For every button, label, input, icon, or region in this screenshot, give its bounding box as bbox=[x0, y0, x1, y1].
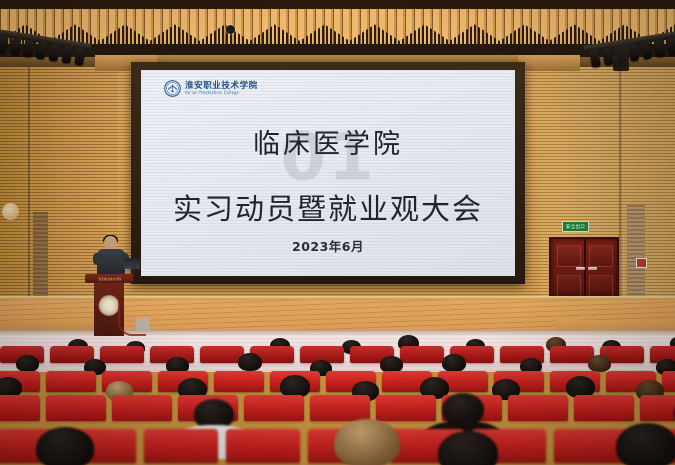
audience-head bbox=[588, 355, 611, 372]
speaker-person bbox=[94, 236, 128, 278]
huaian-polytechnic-emblem-icon bbox=[164, 80, 181, 97]
theater-seat[interactable] bbox=[112, 395, 172, 421]
door-handle[interactable] bbox=[576, 267, 585, 270]
door-panel bbox=[557, 275, 581, 297]
speaker-arm-left bbox=[93, 253, 102, 265]
school-crest-icon bbox=[100, 296, 119, 315]
stage-lamp-icon bbox=[48, 44, 60, 62]
audience-head bbox=[36, 427, 94, 465]
stage-lamp-icon bbox=[36, 41, 48, 59]
stage-lamp-icon bbox=[602, 48, 614, 66]
slide-date: 2023年6月 bbox=[141, 236, 515, 255]
ceiling-top-shadow bbox=[0, 0, 675, 9]
floor-monitor-box bbox=[135, 317, 151, 333]
door-panel bbox=[589, 275, 613, 297]
exit-sign: 安全出口 bbox=[562, 221, 589, 232]
slide-logo-cn: 淮安职业技术学院 bbox=[185, 82, 258, 91]
theater-seat[interactable] bbox=[100, 346, 144, 363]
theater-seat[interactable] bbox=[46, 395, 106, 421]
podium-plaque: 淮安职业技术学院 bbox=[89, 277, 131, 281]
podium-laptop bbox=[123, 258, 140, 269]
stage-lamp-icon bbox=[10, 37, 22, 55]
projection-screen-frame: 01 淮安职业技术学院 Hu'ian Polytechnic College 临… bbox=[131, 62, 525, 284]
wall-lamp-icon bbox=[2, 203, 19, 220]
stage-light-truss-left bbox=[0, 29, 92, 109]
door-handle[interactable] bbox=[588, 267, 597, 270]
stage-lamp-icon bbox=[628, 43, 640, 61]
exit-sign-label: 安全出口 bbox=[566, 224, 585, 230]
theater-seat[interactable] bbox=[400, 346, 444, 363]
audience-head bbox=[334, 419, 400, 465]
theater-seat[interactable] bbox=[376, 395, 436, 421]
audience-head bbox=[442, 354, 466, 372]
soffit-panel-right bbox=[518, 55, 580, 71]
theater-seat[interactable] bbox=[508, 395, 568, 421]
stage-lamp-icon bbox=[0, 35, 9, 53]
slide-title: 临床医学院 bbox=[141, 122, 515, 161]
theater-seat[interactable] bbox=[310, 395, 370, 421]
theater-seat[interactable] bbox=[46, 371, 96, 392]
stage-lamp-icon bbox=[653, 39, 665, 57]
door-panel bbox=[557, 245, 581, 267]
auditorium-scene: 01 淮安职业技术学院 Hu'ian Polytechnic College 临… bbox=[0, 0, 675, 465]
stage-light-truss-right bbox=[583, 31, 675, 111]
stage-lamp-icon bbox=[74, 48, 86, 66]
theater-seat[interactable] bbox=[214, 371, 264, 392]
door-panel bbox=[589, 245, 613, 267]
wall-speaker-icon bbox=[613, 45, 629, 71]
right-wall-vent-grille bbox=[627, 205, 645, 305]
slide-logo-en: Hu'ian Polytechnic College bbox=[185, 92, 258, 96]
audience-head bbox=[16, 355, 39, 372]
theater-seat[interactable] bbox=[0, 395, 40, 421]
audience-area bbox=[0, 333, 675, 465]
theater-seat[interactable] bbox=[574, 395, 634, 421]
speaker-head bbox=[104, 236, 117, 250]
slide-logo-text: 淮安职业技术学院 Hu'ian Polytechnic College bbox=[185, 82, 258, 95]
stage-lamp-icon bbox=[641, 41, 653, 59]
auditorium-exit-door[interactable] bbox=[549, 237, 619, 299]
ceiling-camera-icon bbox=[226, 25, 235, 34]
wall-notice-sign bbox=[636, 258, 647, 268]
theater-seat[interactable] bbox=[640, 395, 675, 421]
podium-plaque-label: 淮安职业技术学院 bbox=[98, 277, 121, 281]
audience-head bbox=[616, 423, 675, 465]
stage-lamp-icon bbox=[666, 37, 675, 55]
theater-seat[interactable] bbox=[244, 395, 304, 421]
theater-seat[interactable] bbox=[144, 429, 218, 463]
theater-seat[interactable] bbox=[226, 429, 300, 463]
stage-lamp-icon bbox=[23, 39, 35, 57]
stage-lamp-icon bbox=[589, 50, 601, 68]
stage-lamp-icon bbox=[61, 46, 73, 64]
slide-logo: 淮安职业技术学院 Hu'ian Polytechnic College bbox=[164, 80, 258, 97]
slide-subtitle: 实习动员暨就业观大会 bbox=[141, 186, 515, 228]
audience-head bbox=[238, 353, 262, 371]
projection-screen: 01 淮安职业技术学院 Hu'ian Polytechnic College 临… bbox=[141, 70, 515, 276]
